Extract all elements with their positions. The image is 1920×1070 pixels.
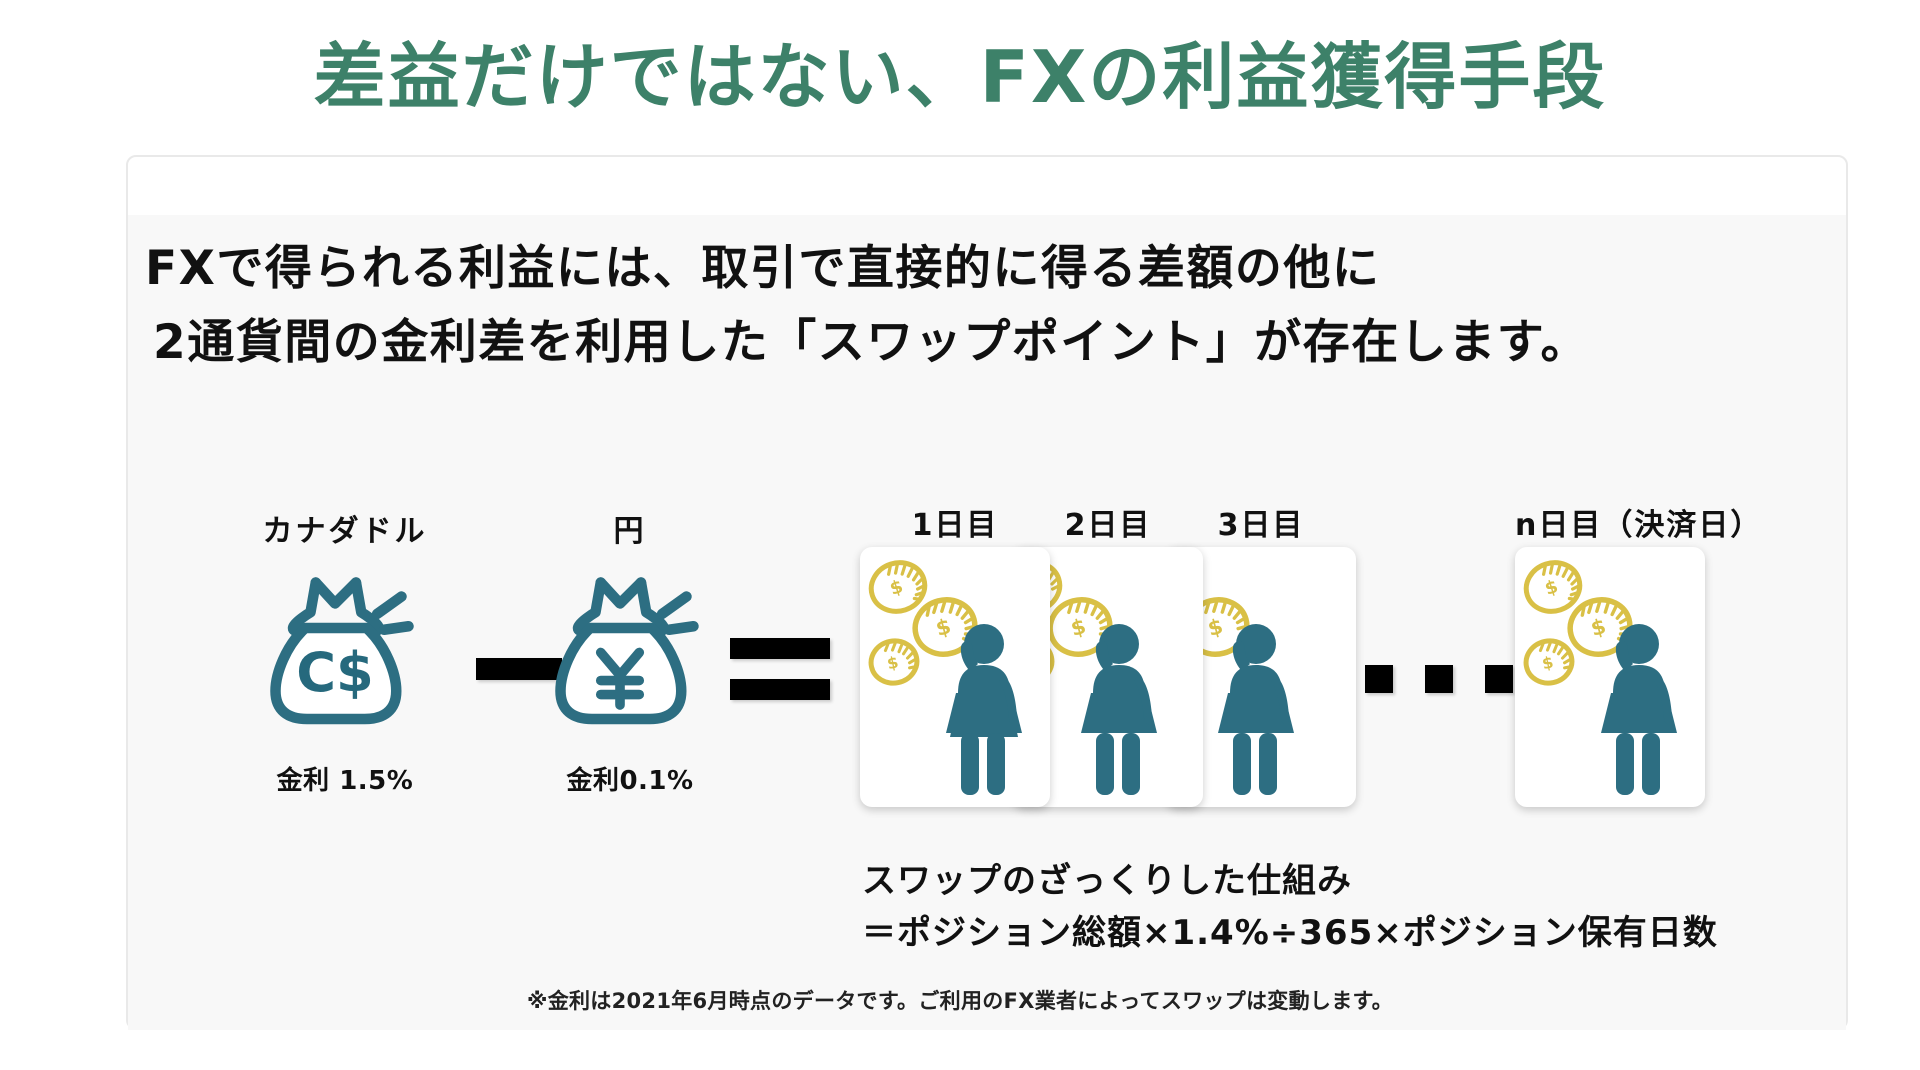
footnote-text: ※金利は2021年6月時点のデータです。ご利用のFX業者によってスワップは変動し… xyxy=(0,985,1920,1015)
equals-bar-bottom xyxy=(730,679,830,700)
swap-formula-line-1: スワップのざっくりした仕組み xyxy=(862,855,1718,907)
currency-label-cad: カナダドル xyxy=(230,510,460,554)
day-card-item-1: 1日目 $ xyxy=(860,505,1050,807)
svg-text:$: $ xyxy=(1205,614,1225,641)
day-cards-row: 1日目 $ xyxy=(860,505,1850,835)
money-bag-icon-cad: C$ xyxy=(230,562,460,742)
lead-line-1: FXで得られる利益には、取引で直接的に得る差額の他に xyxy=(145,232,1845,306)
coin-icon-group: $ $ xyxy=(1520,556,1636,687)
money-bag-icon-jpy xyxy=(515,562,745,742)
swap-formula: スワップのざっくりした仕組み ＝ポジション総額×1.4%÷365×ポジション保有… xyxy=(862,855,1718,959)
svg-text:$: $ xyxy=(887,576,905,600)
ellipsis-icon xyxy=(1365,665,1513,693)
ellipsis-dot-1 xyxy=(1365,665,1393,693)
money-bag-group-jpy: 円 金利0.1% xyxy=(515,510,745,797)
day-card-n: $ $ xyxy=(1515,547,1705,807)
page-title: 差益だけではない、FXの利益獲得手段 xyxy=(0,18,1920,123)
ellipsis-dot-3 xyxy=(1485,665,1513,693)
svg-text:$: $ xyxy=(1068,614,1088,641)
day-card-1: $ $ xyxy=(860,547,1050,807)
svg-text:$: $ xyxy=(1542,576,1560,600)
day-label-3: 3日目 xyxy=(1166,505,1356,547)
svg-text:$: $ xyxy=(885,652,900,673)
equals-bar-top xyxy=(730,638,830,659)
svg-text:$: $ xyxy=(933,614,953,641)
currency-equation: カナダドル C$ 金利 1.5% 円 xyxy=(150,510,850,830)
swap-formula-line-2: ＝ポジション総額×1.4%÷365×ポジション保有日数 xyxy=(862,907,1718,959)
interest-rate-jpy: 金利0.1% xyxy=(515,760,745,797)
lead-paragraph: FXで得られる利益には、取引で直接的に得る差額の他に 2通貨間の金利差を利用した… xyxy=(145,232,1845,380)
day-card-item-n: n日目（決済日） $ xyxy=(1515,505,1762,807)
ellipsis-dot-2 xyxy=(1425,665,1453,693)
coin-icon-group: $ $ xyxy=(865,556,981,687)
equals-operator-icon xyxy=(730,638,830,700)
currency-label-jpy: 円 xyxy=(515,510,745,554)
interest-rate-cad: 金利 1.5% xyxy=(230,760,460,797)
money-bag-symbol-cad: C$ xyxy=(296,641,374,704)
money-bag-group-cad: カナダドル C$ 金利 1.5% xyxy=(230,510,460,797)
svg-text:$: $ xyxy=(1588,614,1608,641)
svg-text:$: $ xyxy=(1540,652,1555,673)
day-label-n: n日目（決済日） xyxy=(1515,505,1762,547)
lead-line-2: 2通貨間の金利差を利用した「スワップポイント」が存在します。 xyxy=(145,306,1845,380)
